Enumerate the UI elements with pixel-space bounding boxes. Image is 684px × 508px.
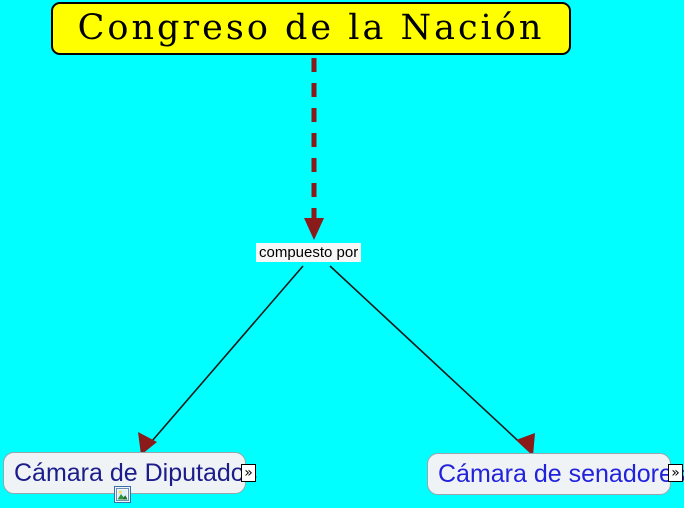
node-camara-de-diputados-label: Cámara de Diputados bbox=[4, 461, 267, 486]
edge-label-compuesto-por[interactable]: compuesto por bbox=[256, 243, 361, 262]
expand-chevron-icon-senadores[interactable]: » bbox=[668, 464, 683, 482]
edge-mid-to-senadores bbox=[330, 266, 528, 450]
mindmap-canvas: Congreso de la Nación compuesto por Cáma… bbox=[0, 0, 684, 508]
expand-chevron-icon-diputados[interactable]: » bbox=[241, 464, 256, 482]
node-congreso-de-la-nacion[interactable]: Congreso de la Nación bbox=[51, 2, 571, 55]
picture-icon-glyph bbox=[116, 488, 129, 501]
node-camara-de-senadores-label: Cámara de senadores bbox=[428, 462, 684, 487]
picture-icon[interactable] bbox=[114, 486, 131, 503]
edge-mid-to-diputados bbox=[146, 266, 303, 448]
arrowhead-root-to-mid bbox=[304, 218, 324, 240]
node-congreso-label: Congreso de la Nación bbox=[78, 11, 545, 46]
node-camara-de-senadores[interactable]: Cámara de senadores bbox=[427, 453, 671, 495]
